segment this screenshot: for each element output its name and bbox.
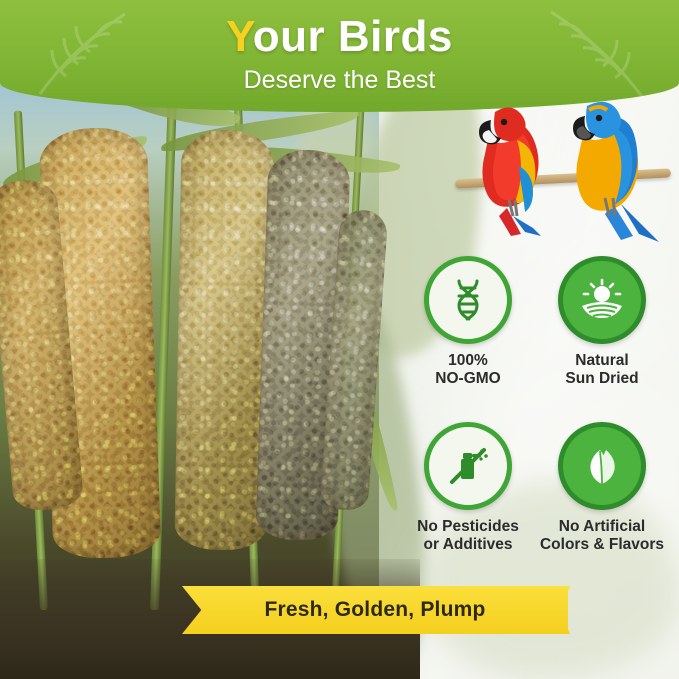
sun-field-icon — [578, 276, 626, 324]
parrot-illustration — [455, 96, 675, 246]
title-accent-letter: Y — [226, 12, 253, 61]
feature-badge-circle — [558, 422, 646, 510]
product-infographic: Your Birds Deserve the Best — [0, 0, 679, 679]
no-spray-icon — [445, 443, 491, 489]
feature-no-artificial-colors: No Artificial Colors & Flavors — [538, 422, 666, 555]
title-rest: our Birds — [253, 12, 453, 61]
feature-badge-circle — [424, 422, 512, 510]
feature-label: No Pesticides or Additives — [404, 518, 532, 555]
feature-label: No Artificial Colors & Flavors — [538, 518, 666, 555]
dna-icon — [445, 277, 491, 323]
feature-no-pesticides: No Pesticides or Additives — [404, 422, 532, 555]
feature-badge-circle — [558, 256, 646, 344]
feature-label: 100% NO-GMO — [404, 352, 532, 389]
ribbon-text: Fresh, Golden, Plump — [182, 586, 568, 634]
feature-badge-circle — [424, 256, 512, 344]
page-title: Your Birds — [0, 12, 679, 62]
page-subtitle: Deserve the Best — [0, 66, 679, 95]
blue-and-gold-macaw-icon — [543, 92, 673, 242]
feature-badges: 100% NO-GMO Natural Sun Dried — [404, 256, 670, 556]
feature-label: Natural Sun Dried — [538, 352, 666, 389]
feature-sun-dried: Natural Sun Dried — [538, 256, 666, 389]
leaves-icon — [578, 442, 626, 490]
feature-no-gmo: 100% NO-GMO — [404, 256, 532, 389]
